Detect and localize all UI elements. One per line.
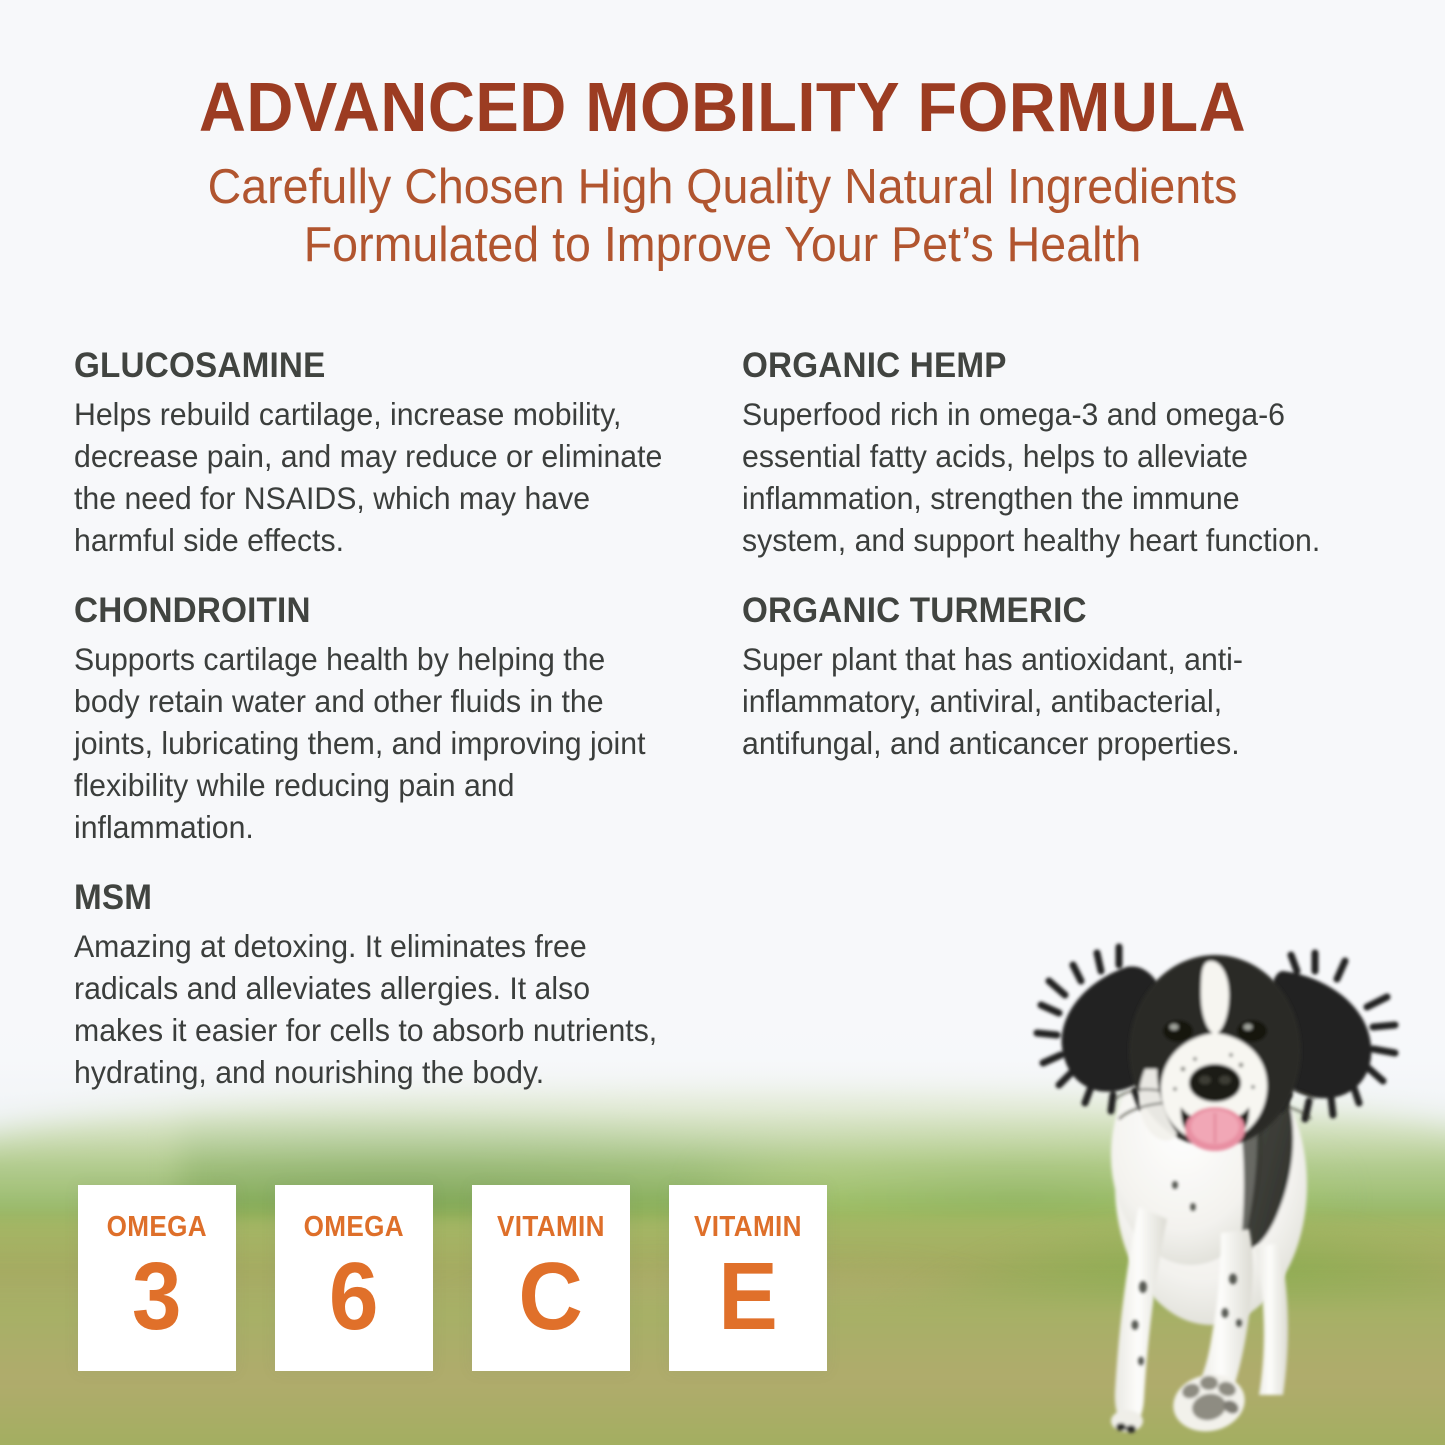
- ingredient-glucosamine: GLUCOSAMINE Helps rebuild cartilage, inc…: [74, 344, 706, 561]
- nutrient-tile-omega-3: OMEGA 3: [78, 1185, 236, 1371]
- tile-value: E: [718, 1245, 778, 1349]
- nutrient-tile-omega-6: OMEGA 6: [275, 1185, 433, 1371]
- tile-kicker: OMEGA: [304, 1211, 404, 1243]
- ingredient-description: Helps rebuild cartilage, increase mobili…: [74, 393, 679, 561]
- page-subtitle: Carefully Chosen High Quality Natural In…: [36, 158, 1409, 274]
- tile-value: C: [519, 1245, 583, 1349]
- subtitle-line-1: Carefully Chosen High Quality Natural In…: [36, 158, 1409, 216]
- tile-value: 6: [329, 1245, 379, 1349]
- product-infographic: ADVANCED MOBILITY FORMULA Carefully Chos…: [0, 0, 1445, 1445]
- ingredient-msm: MSM Amazing at detoxing. It eliminates f…: [74, 876, 706, 1093]
- ingredient-heading: ORGANIC TURMERIC: [742, 589, 1342, 633]
- ingredient-columns: GLUCOSAMINE Helps rebuild cartilage, inc…: [74, 344, 1374, 1093]
- nutrient-tile-vitamin-e: VITAMIN E: [669, 1185, 827, 1371]
- tile-kicker: VITAMIN: [694, 1211, 802, 1243]
- ingredient-organic-turmeric: ORGANIC TURMERIC Super plant that has an…: [742, 589, 1374, 764]
- ingredient-chondroitin: CHONDROITIN Supports cartilage health by…: [74, 589, 706, 848]
- subtitle-line-2: Formulated to Improve Your Pet’s Health: [36, 216, 1409, 274]
- tile-value: 3: [132, 1245, 182, 1349]
- ingredient-description: Amazing at detoxing. It eliminates free …: [74, 925, 679, 1093]
- page-title: ADVANCED MOBILITY FORMULA: [51, 68, 1395, 146]
- ingredient-organic-hemp: ORGANIC HEMP Superfood rich in omega-3 a…: [742, 344, 1374, 561]
- ingredient-column-right: ORGANIC HEMP Superfood rich in omega-3 a…: [742, 344, 1374, 1093]
- nutrient-tile-vitamin-c: VITAMIN C: [472, 1185, 630, 1371]
- nutrient-tiles: OMEGA 3 OMEGA 6 VITAMIN C VITAMIN E: [78, 1185, 827, 1371]
- ingredient-heading: MSM: [74, 876, 674, 920]
- ingredient-heading: ORGANIC HEMP: [742, 344, 1342, 388]
- ingredient-heading: GLUCOSAMINE: [74, 344, 674, 388]
- tile-kicker: VITAMIN: [497, 1211, 605, 1243]
- tile-kicker: OMEGA: [107, 1211, 207, 1243]
- ingredient-description: Supports cartilage health by helping the…: [74, 638, 679, 848]
- ingredient-description: Superfood rich in omega-3 and omega-6 es…: [742, 393, 1347, 561]
- ingredient-heading: CHONDROITIN: [74, 589, 674, 633]
- ingredient-description: Super plant that has antioxidant, anti-i…: [742, 638, 1347, 764]
- header: ADVANCED MOBILITY FORMULA Carefully Chos…: [0, 68, 1445, 274]
- ingredient-column-left: GLUCOSAMINE Helps rebuild cartilage, inc…: [74, 344, 706, 1093]
